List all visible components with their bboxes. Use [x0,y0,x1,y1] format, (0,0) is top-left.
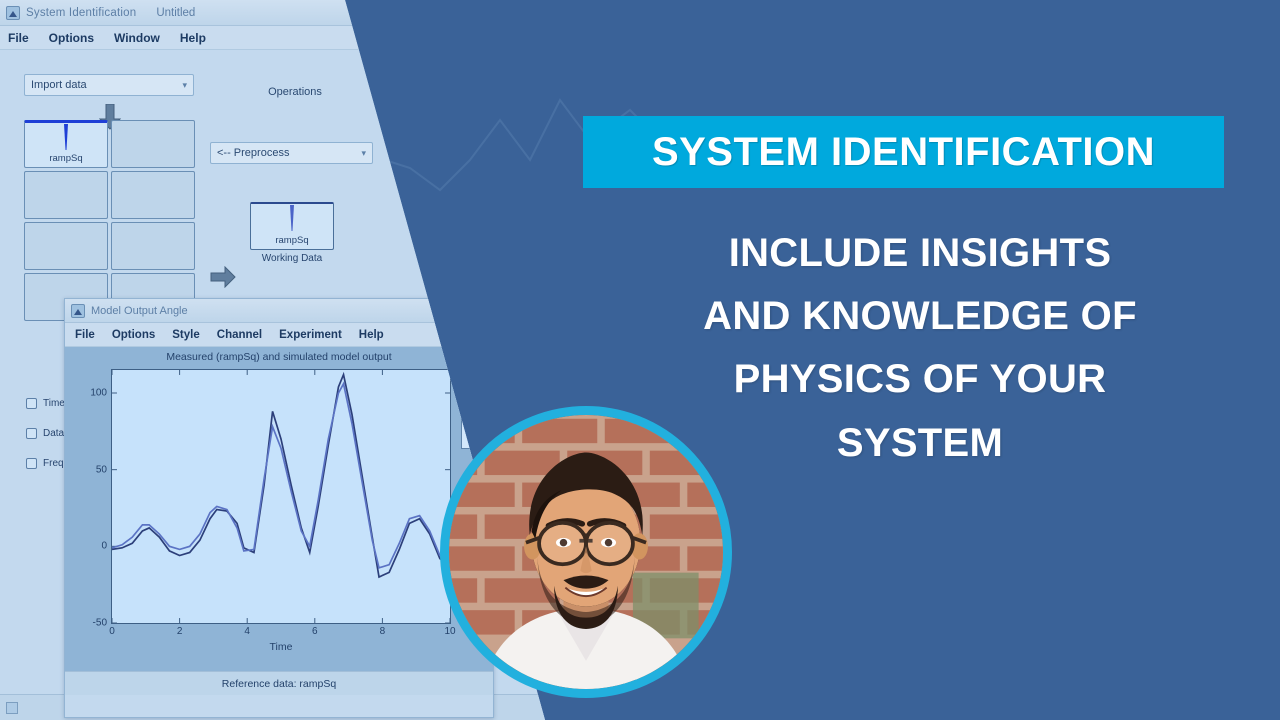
y-axis-tick-label: 50 [96,464,107,475]
data-cell-empty-4[interactable] [24,222,108,270]
matlab-app-icon [71,304,85,318]
signal-spike-icon [290,205,294,231]
subtitle-block: INCLUDE INSIGHTS AND KNOWLEDGE OF PHYSIC… [600,222,1240,475]
working-data-label: Working Data [250,253,334,264]
banner: SYSTEM IDENTIFICATION [583,116,1224,188]
preprocess-dropdown[interactable]: <-- Preprocess ▾ [210,142,373,164]
arrow-right-icon [210,266,236,288]
working-data-cell[interactable]: rampSq [250,202,334,250]
menu-item-window[interactable]: Window [114,31,160,45]
model-output-titlebar: Model Output Angle [65,299,493,323]
chevron-down-icon: ▾ [182,80,187,91]
avatar [440,406,732,698]
y-axis-tick-label: 100 [90,388,107,399]
data-cell-rampsq[interactable]: rampSq [24,120,108,168]
import-data-dropdown[interactable]: Import data ▾ [24,74,194,96]
data-cell-label: rampSq [25,153,107,164]
signal-spike-icon [64,124,68,150]
x-axis-label: Time [112,641,450,653]
reference-data-text: Reference data: rampSq [222,678,336,690]
y-axis-tick-label: 0 [101,541,107,552]
model-output-window[interactable]: Model Output Angle File Options Style Ch… [64,298,494,718]
chart-plot-lines [112,370,450,623]
plot-area: Measured (rampSq) and simulated model ou… [65,347,493,695]
menu-item-help[interactable]: Help [359,329,384,341]
x-axis-tick-label: 6 [312,626,318,637]
banner-text: SYSTEM IDENTIFICATION [652,130,1155,175]
avatar-photo [449,415,723,689]
x-axis-tick-label: 10 [444,626,455,637]
menu-item-channel[interactable]: Channel [217,329,262,341]
data-cell-empty-5[interactable] [111,222,195,270]
subtitle-line-2: PHYSICS OF YOUR [600,348,1240,411]
x-axis-tick-label: 2 [177,626,183,637]
menu-item-options[interactable]: Options [112,329,155,341]
checkbox-box-icon[interactable] [26,458,37,469]
menu-item-file[interactable]: File [8,31,29,45]
x-axis-tick-label: 0 [109,626,115,637]
menu-item-style[interactable]: Style [172,329,200,341]
sysid-window-subtitle: Untitled [156,7,195,19]
menu-item-help[interactable]: Help [180,31,206,45]
model-output-menubar: File Options Style Channel Experiment He… [65,323,493,347]
chevron-down-icon: ▾ [361,148,366,159]
data-cell-grid: rampSq [24,120,195,321]
screenshot-stage: System Identification Untitled File Opti… [0,0,1280,720]
y-axis-tick-label: -50 [93,618,107,629]
checkbox-box-icon[interactable] [26,428,37,439]
menu-item-file[interactable]: File [75,329,95,341]
operations-label: Operations [240,86,350,98]
x-axis-tick-label: 8 [380,626,386,637]
subtitle-line-1: AND KNOWLEDGE OF [600,285,1240,348]
matlab-app-icon [6,6,20,20]
data-cell-empty-2[interactable] [24,171,108,219]
status-icon [6,702,18,714]
checkbox-box-icon[interactable] [26,398,37,409]
model-output-title: Model Output Angle [91,305,188,317]
sysid-window-title: System Identification [26,7,136,19]
subtitle-line-0: INCLUDE INSIGHTS [600,222,1240,285]
chart-axes: -500501000246810Time [111,369,451,624]
preprocess-value: <-- Preprocess [217,147,289,159]
x-axis-tick-label: 4 [244,626,250,637]
chart-title: Measured (rampSq) and simulated model ou… [65,351,493,363]
menu-item-experiment[interactable]: Experiment [279,329,342,341]
data-cell-empty-1[interactable] [111,120,195,168]
menu-item-options[interactable]: Options [49,31,94,45]
import-data-value: Import data [31,79,87,91]
model-output-statusbar: Reference data: rampSq [65,671,493,695]
working-data-name: rampSq [251,235,333,246]
data-cell-empty-3[interactable] [111,171,195,219]
